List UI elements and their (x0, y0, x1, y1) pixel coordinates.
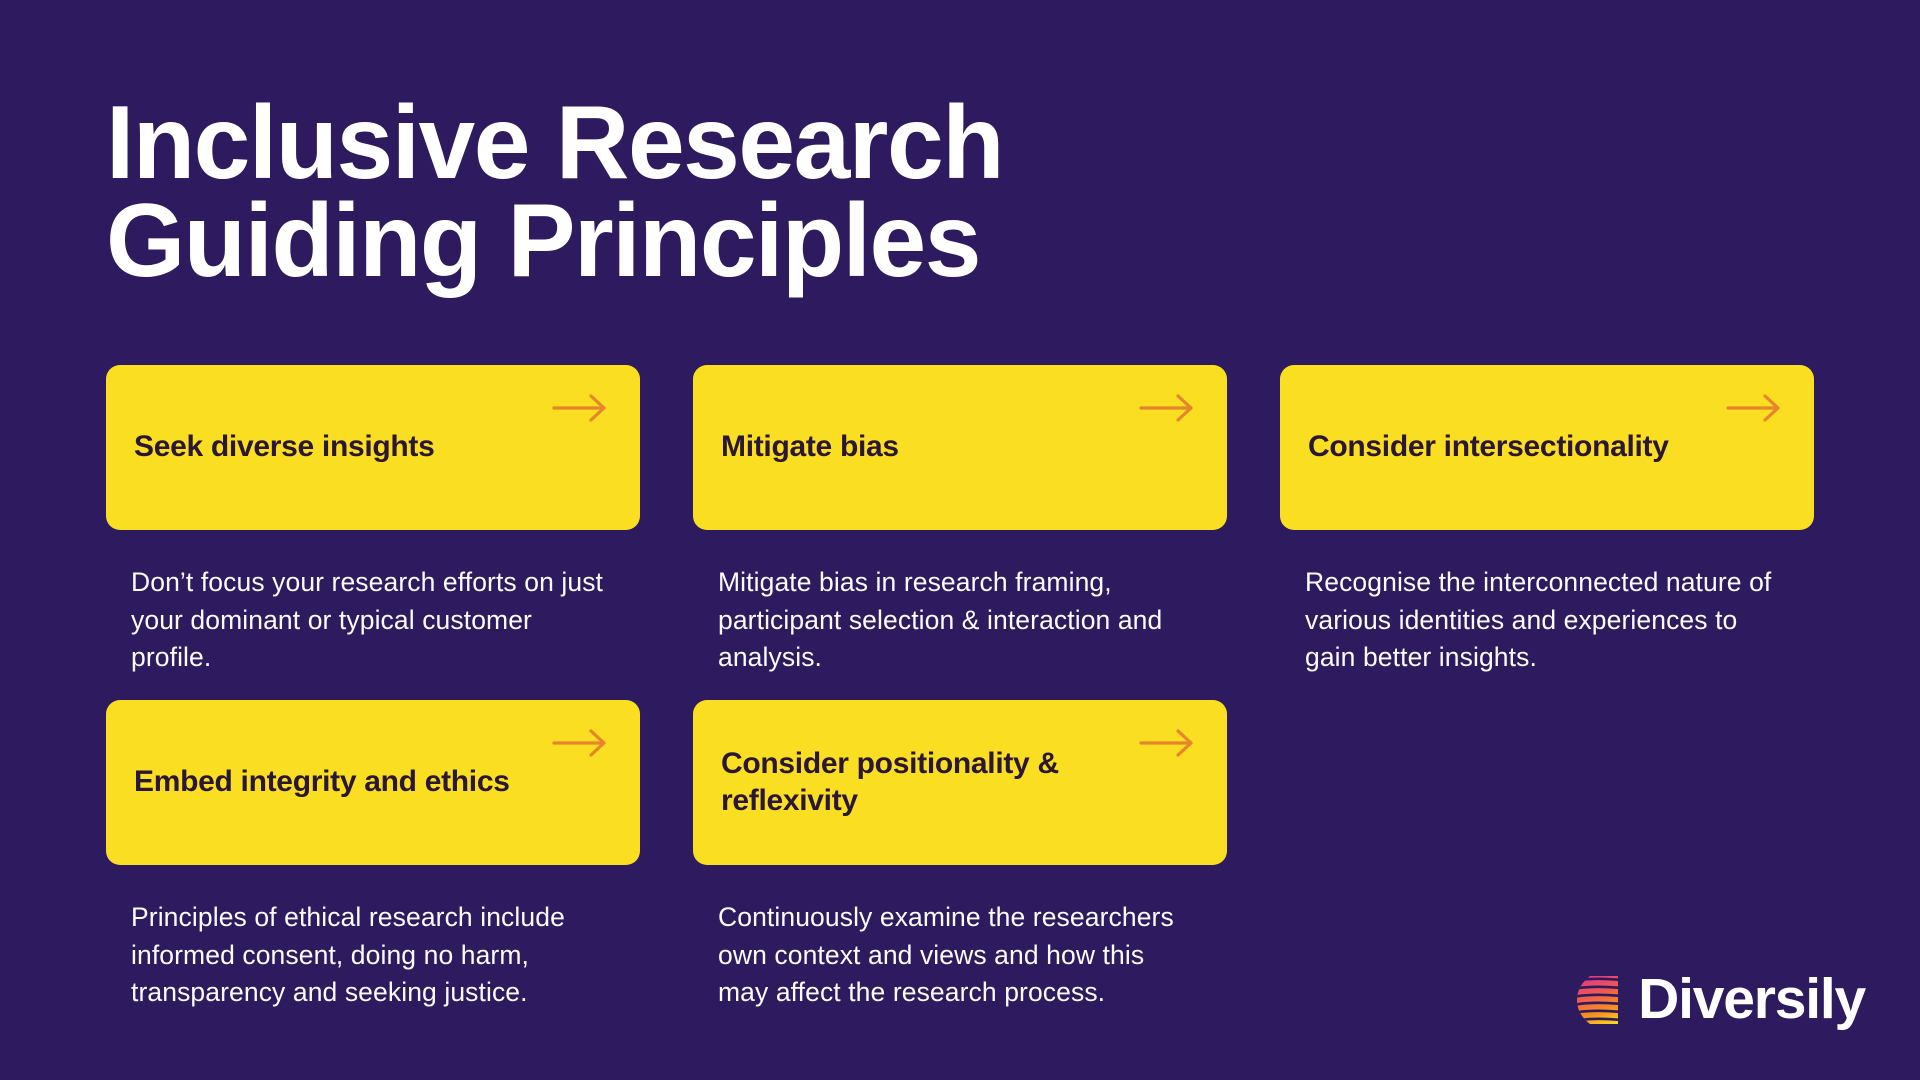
striped-sphere-logo-icon (1574, 972, 1626, 1028)
principle-description: Principles of ethical research include i… (106, 899, 611, 1012)
principle-card-header[interactable]: Seek diverse insights (106, 365, 640, 530)
principle-card-header[interactable]: Consider positionality & reflexivity (693, 700, 1227, 865)
principle-title: Consider positionality & reflexivity (721, 746, 1121, 819)
page-title-line-1: Inclusive Research (106, 95, 1331, 193)
principle-title: Embed integrity and ethics (134, 764, 510, 801)
page-title-line-2: Guiding Principles (106, 193, 1331, 291)
principle-card-header[interactable]: Embed integrity and ethics (106, 700, 640, 865)
principle-description: Mitigate bias in research framing, parti… (693, 564, 1198, 677)
arrow-right-icon (1139, 393, 1197, 423)
arrow-right-icon (552, 393, 610, 423)
principle-card-embed-integrity-and-ethics[interactable]: Embed integrity and ethics Principles of… (106, 700, 640, 1012)
principle-card-header[interactable]: Consider intersectionality (1280, 365, 1814, 530)
arrow-right-icon (552, 728, 610, 758)
principle-title: Mitigate bias (721, 429, 899, 466)
principle-description: Continuously examine the researchers own… (693, 899, 1198, 1012)
principle-title: Consider intersectionality (1308, 429, 1669, 466)
arrow-right-icon (1726, 393, 1784, 423)
arrow-right-icon (1139, 728, 1197, 758)
principle-card-consider-positionality-and-reflexivity[interactable]: Consider positionality & reflexivity Con… (693, 700, 1227, 1012)
brand-wordmark: Diversily (1638, 971, 1865, 1028)
page-title: Inclusive Research Guiding Principles (106, 95, 1356, 291)
principle-card-seek-diverse-insights[interactable]: Seek diverse insights Don’t focus your r… (106, 365, 640, 677)
principle-title: Seek diverse insights (134, 429, 435, 466)
principle-card-header[interactable]: Mitigate bias (693, 365, 1227, 530)
principle-description: Don’t focus your research efforts on jus… (106, 564, 611, 677)
slide-root: Inclusive Research Guiding Principles Se… (0, 0, 1920, 1080)
principle-card-consider-intersectionality[interactable]: Consider intersectionality Recognise the… (1280, 365, 1814, 677)
brand-logo: Diversily (1574, 971, 1865, 1028)
principle-card-mitigate-bias[interactable]: Mitigate bias Mitigate bias in research … (693, 365, 1227, 677)
principle-description: Recognise the interconnected nature of v… (1280, 564, 1785, 677)
